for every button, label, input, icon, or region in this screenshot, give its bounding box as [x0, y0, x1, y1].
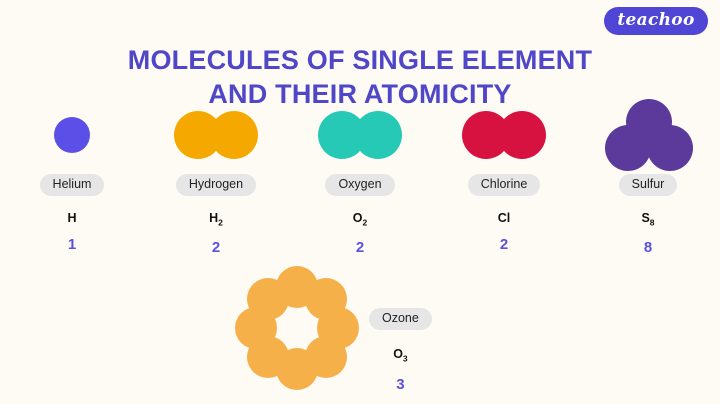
formula-symbol: Cl	[498, 211, 511, 225]
molecule-name-label: Hydrogen	[176, 174, 256, 196]
molecule-name-label: Ozone	[369, 308, 432, 330]
atom-circle	[498, 111, 546, 159]
molecule-atomicity: 2	[500, 237, 508, 252]
molecule-atomicity: 3	[396, 377, 404, 392]
atom-circle	[247, 278, 289, 320]
atom-pair	[174, 111, 258, 159]
molecule-card-sulfur: Sulfur S8 8	[576, 96, 720, 261]
atom-diagram-oxygen	[288, 96, 432, 174]
atom-circle	[647, 125, 693, 171]
formula-symbol: O	[353, 211, 363, 225]
teachoo-logo: teachoo	[604, 7, 708, 35]
atom-diagram-chlorine	[432, 96, 576, 174]
formula-subscript: 8	[650, 217, 655, 227]
formula-symbol: H	[209, 211, 218, 225]
formula-subscript: 2	[218, 217, 223, 227]
atom-diagram-sulfur	[576, 96, 720, 174]
molecule-name-label: Chlorine	[468, 174, 541, 196]
atom-diagram-hydrogen	[144, 96, 288, 174]
page-title-line-1: MOLECULES OF SINGLE ELEMENT	[0, 44, 720, 77]
molecule-name-label: Sulfur	[619, 174, 678, 196]
molecule-formula: Cl	[498, 212, 511, 225]
molecule-formula: H	[67, 212, 76, 225]
ozone-info: Ozone O3 3	[369, 308, 432, 392]
molecule-card-ozone: Ozone O3 3	[235, 266, 485, 400]
molecule-formula: S8	[641, 212, 654, 227]
molecule-formula: O2	[353, 212, 367, 227]
atom-circle	[54, 117, 90, 153]
molecule-card-helium: Helium H 1	[0, 96, 144, 261]
atom-pair	[462, 111, 546, 159]
atom-diagram-ozone	[235, 266, 359, 390]
formula-subscript: 2	[363, 217, 368, 227]
molecule-atomicity: 2	[212, 240, 220, 255]
formula-symbol: O	[393, 347, 403, 361]
molecule-atomicity: 2	[356, 240, 364, 255]
atom-circle	[605, 125, 651, 171]
molecule-name-label: Oxygen	[325, 174, 394, 196]
atom-diagram-helium	[0, 96, 144, 174]
molecule-row: Helium H 1 Hydrogen H2 2 Oxygen O2 2	[0, 96, 720, 261]
formula-subscript: 3	[403, 353, 408, 363]
formula-symbol: H	[67, 211, 76, 225]
molecule-atomicity: 8	[644, 240, 652, 255]
molecule-atomicity: 1	[68, 237, 76, 252]
atom-circle	[210, 111, 258, 159]
molecule-formula: O3	[393, 348, 407, 363]
atom-triad	[605, 99, 691, 171]
molecule-card-oxygen: Oxygen O2 2	[288, 96, 432, 261]
teachoo-logo-text: teachoo	[617, 12, 694, 30]
formula-symbol: S	[641, 211, 649, 225]
molecule-formula: H2	[209, 212, 223, 227]
atom-circle	[354, 111, 402, 159]
molecule-card-chlorine: Chlorine Cl 2	[432, 96, 576, 261]
molecule-card-hydrogen: Hydrogen H2 2	[144, 96, 288, 261]
molecule-name-label: Helium	[40, 174, 105, 196]
atom-pair	[318, 111, 402, 159]
